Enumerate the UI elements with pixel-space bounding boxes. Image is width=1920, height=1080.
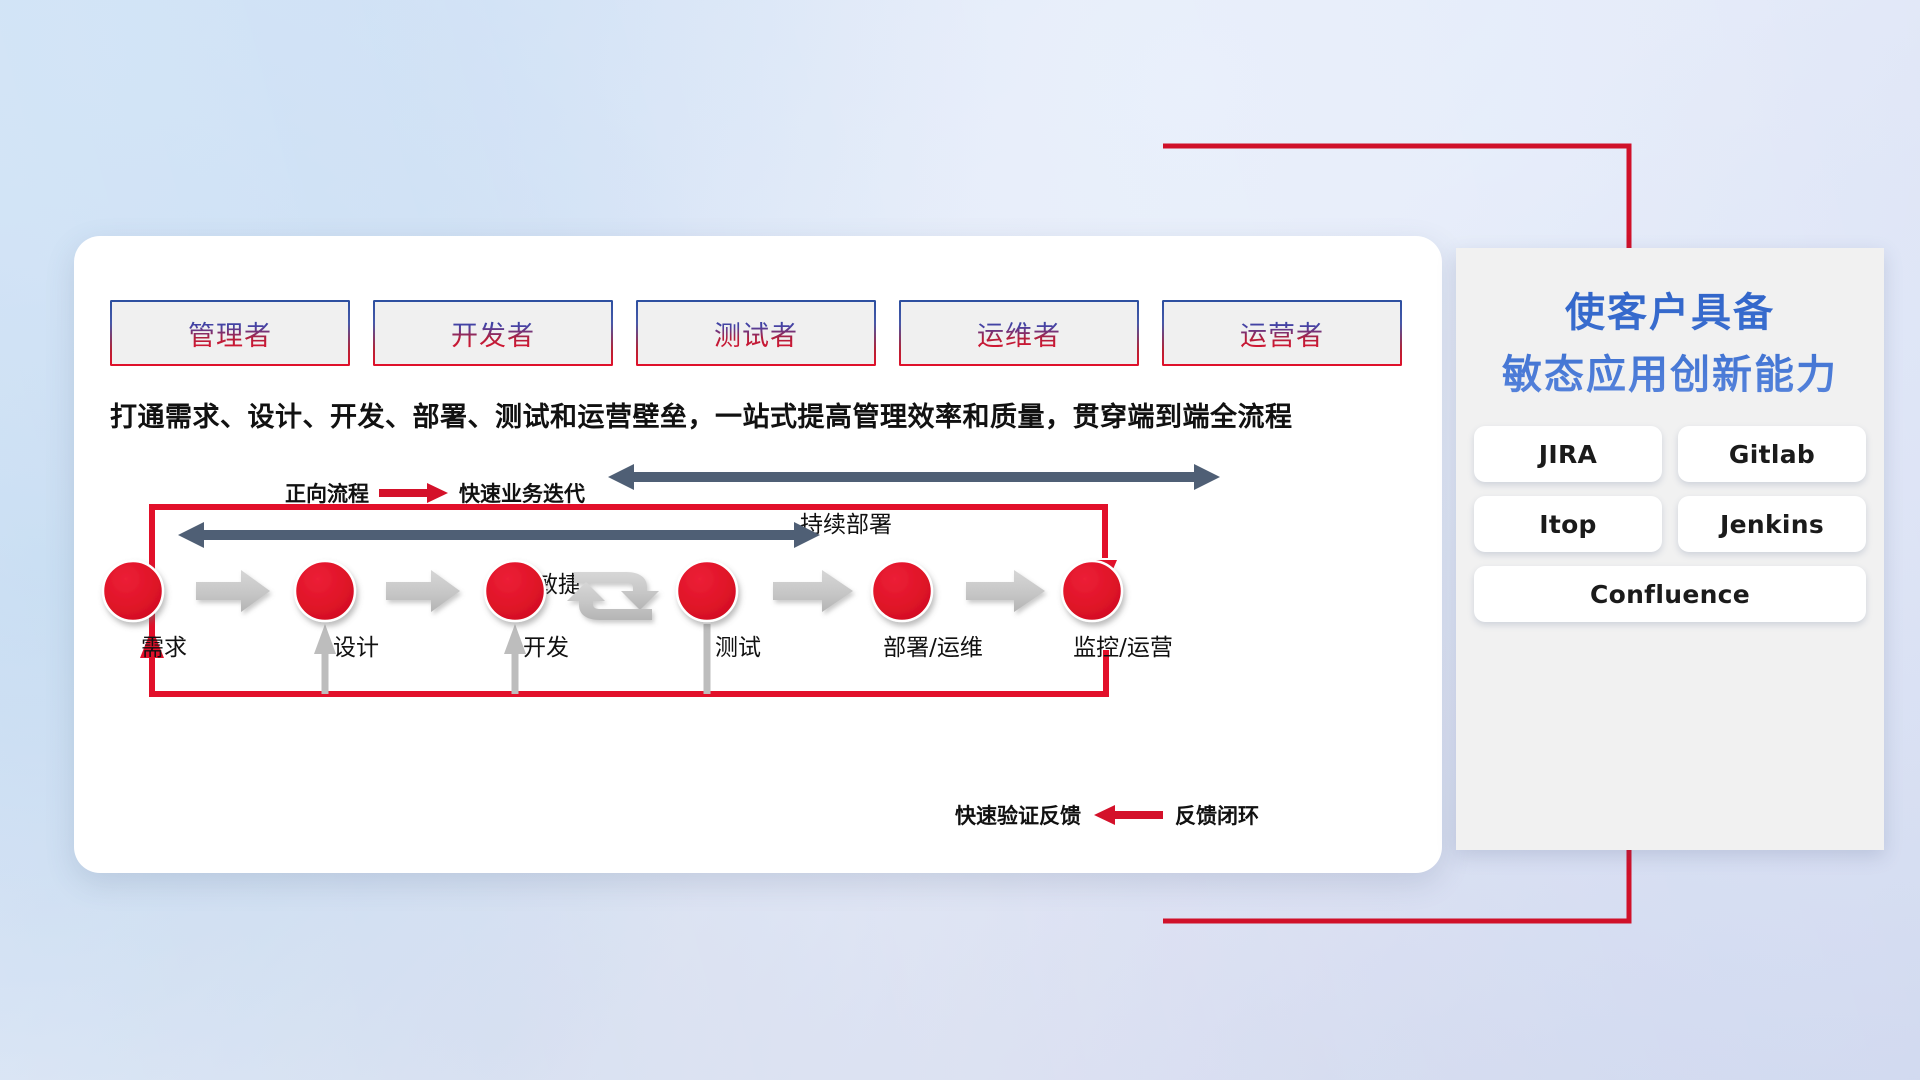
tool-chip-jenkins[interactable]: Jenkins	[1678, 496, 1866, 552]
stage-label-monitor-operations: 监控/运营	[1073, 628, 1173, 662]
role-label: 开发者	[451, 314, 535, 353]
role-label: 运维者	[977, 314, 1061, 353]
role-box-tester[interactable]: 测试者	[636, 300, 876, 366]
description-text: 打通需求、设计、开发、部署、测试和运营壁垒，一站式提高管理效率和质量，贯穿端到端…	[110, 395, 1410, 434]
role-box-developer[interactable]: 开发者	[373, 300, 613, 366]
stage-label-requirements: 需求	[141, 628, 187, 662]
role-box-manager[interactable]: 管理者	[110, 300, 350, 366]
tool-chip-jira[interactable]: JIRA	[1474, 426, 1662, 482]
value-proposition-panel: 使客户具备 敏态应用创新能力 JIRA Gitlab Itop Jenkins …	[1456, 248, 1884, 850]
stage-label-deploy-ops: 部署/运维	[883, 628, 983, 662]
stage-label-development: 开发	[523, 628, 569, 662]
feedback-loop-legend: 快速验证反馈 反馈闭环	[955, 800, 1259, 830]
role-label: 测试者	[714, 314, 798, 353]
tool-chip-gitlab[interactable]: Gitlab	[1678, 426, 1866, 482]
tool-chip-confluence[interactable]: Confluence	[1474, 566, 1866, 622]
role-box-ops[interactable]: 运维者	[899, 300, 1139, 366]
tool-chip-list: JIRA Gitlab Itop Jenkins Confluence	[1474, 426, 1866, 622]
left-arrow-icon	[1093, 804, 1163, 826]
right-arrow-icon	[379, 482, 449, 504]
forward-flow-legend: 正向流程 快速业务迭代	[285, 478, 585, 508]
stage-label-design: 设计	[333, 628, 379, 662]
role-box-operations[interactable]: 运营者	[1162, 300, 1402, 366]
feedback-left-label: 快速验证反馈	[955, 800, 1081, 830]
tool-chip-itop[interactable]: Itop	[1474, 496, 1662, 552]
continuous-deploy-label: 持续部署	[800, 505, 892, 539]
role-label: 管理者	[188, 314, 272, 353]
panel-title-line2: 敏态应用创新能力	[1456, 344, 1884, 406]
role-box-row: 管理者 开发者 测试者 运维者 运营者	[110, 300, 1402, 366]
panel-title-line1: 使客户具备	[1456, 282, 1884, 344]
feedback-right-label: 反馈闭环	[1175, 800, 1259, 830]
forward-flow-left-label: 正向流程	[285, 478, 369, 508]
panel-title: 使客户具备 敏态应用创新能力	[1456, 282, 1884, 406]
forward-flow-right-label: 快速业务迭代	[459, 478, 585, 508]
role-label: 运营者	[1240, 314, 1324, 353]
agile-label: 敏捷	[535, 565, 581, 599]
stage-label-testing: 测试	[715, 628, 761, 662]
